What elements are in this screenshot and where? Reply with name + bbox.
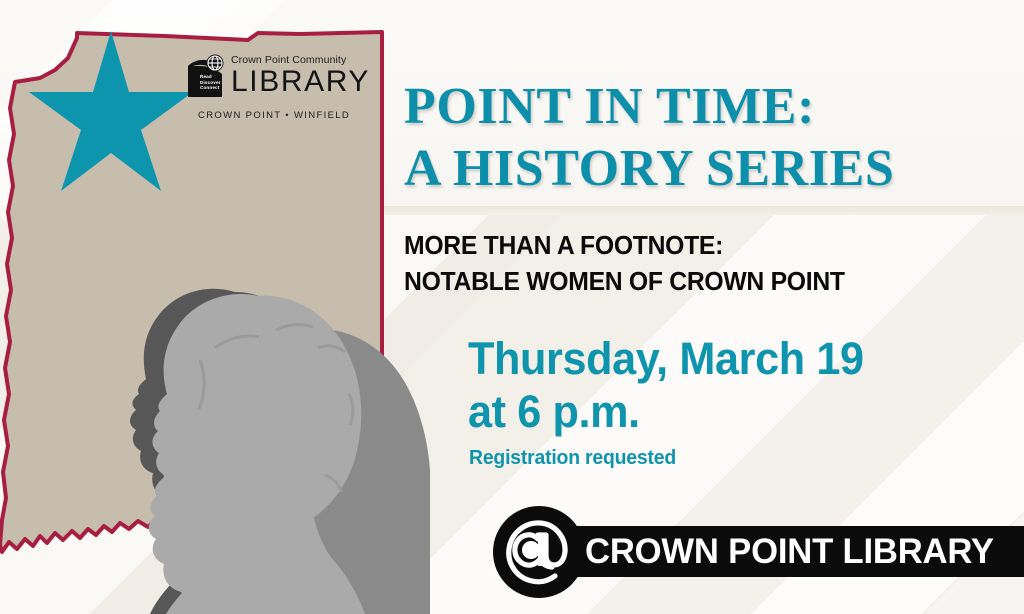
location-badge-label: CROWN POINT LIBRARY <box>585 526 994 577</box>
woman-silhouette-front <box>149 294 365 614</box>
library-logo-wordmark: Crown Point Community LIBRARY <box>231 54 351 97</box>
page-title: POINT IN TIME: A HISTORY SERIES <box>404 76 1004 200</box>
event-subtitle: MORE THAN A FOOTNOTE: NOTABLE WOMEN OF C… <box>404 228 996 300</box>
at-sign-icon <box>493 506 585 598</box>
library-logo-main-word: LIBRARY <box>231 67 351 97</box>
event-poster: Read Discover Connect Crown Point Commun… <box>0 0 1024 614</box>
library-logo-locations: CROWN POINT • WINFIELD <box>198 110 350 121</box>
library-logo-tagline: Read Discover Connect <box>200 74 221 91</box>
event-datetime: Thursday, March 19 at 6 p.m. <box>468 332 1006 438</box>
library-logo: Read Discover Connect Crown Point Commun… <box>186 52 351 134</box>
location-badge: CROWN POINT LIBRARY <box>493 506 1024 598</box>
registration-note: Registration requested <box>469 447 676 470</box>
library-logo-book-globe-icon: Read Discover Connect <box>186 54 228 99</box>
library-logo-tagline-connect: Connect <box>200 85 221 91</box>
